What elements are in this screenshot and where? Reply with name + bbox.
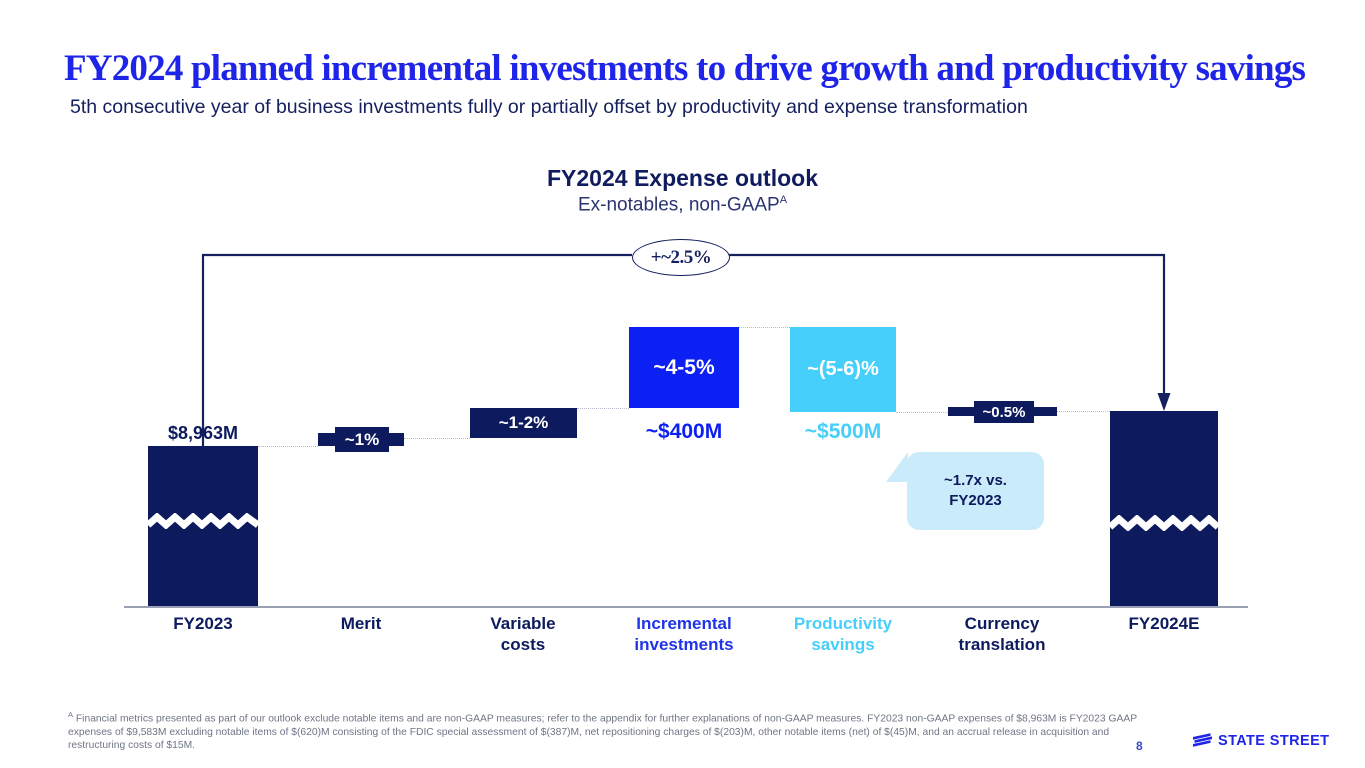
state-street-s-mark-icon	[1192, 732, 1213, 750]
category-label-line-1: Currency	[927, 613, 1077, 634]
category-label-line-2: costs	[448, 634, 598, 655]
footnote-text: Financial metrics presented as part of o…	[68, 713, 1137, 751]
x-axis-line	[124, 606, 1248, 608]
total-change-badge: +~2.5%	[632, 239, 730, 276]
footnote: A Financial metrics presented as part of…	[68, 708, 1138, 753]
category-label-line-2: savings	[768, 634, 918, 655]
brand-logo: STATE STREET	[1192, 732, 1329, 750]
category-label-variable-costs: Variable costs	[448, 613, 598, 655]
category-label-line-1: Productivity	[768, 613, 918, 634]
category-label-line-2: translation	[927, 634, 1077, 655]
category-label-fy2023: FY2023	[128, 613, 278, 634]
category-label-currency-translation: Currency translation	[927, 613, 1077, 655]
category-label-line-1: FY2024E	[1089, 613, 1239, 634]
category-label-line-2: investments	[609, 634, 759, 655]
footnote-marker: A	[68, 710, 73, 719]
page-number: 8	[1136, 739, 1143, 753]
category-label-productivity-savings: Productivity savings	[768, 613, 918, 655]
category-label-line-1: Merit	[286, 613, 436, 634]
brand-logo-text: STATE STREET	[1218, 733, 1329, 749]
category-label-line-1: FY2023	[128, 613, 278, 634]
category-label-fy2024e: FY2024E	[1089, 613, 1239, 634]
category-label-line-1: Incremental	[609, 613, 759, 634]
category-label-line-1: Variable	[448, 613, 598, 634]
category-label-incremental-investments: Incremental investments	[609, 613, 759, 655]
category-label-merit: Merit	[286, 613, 436, 634]
